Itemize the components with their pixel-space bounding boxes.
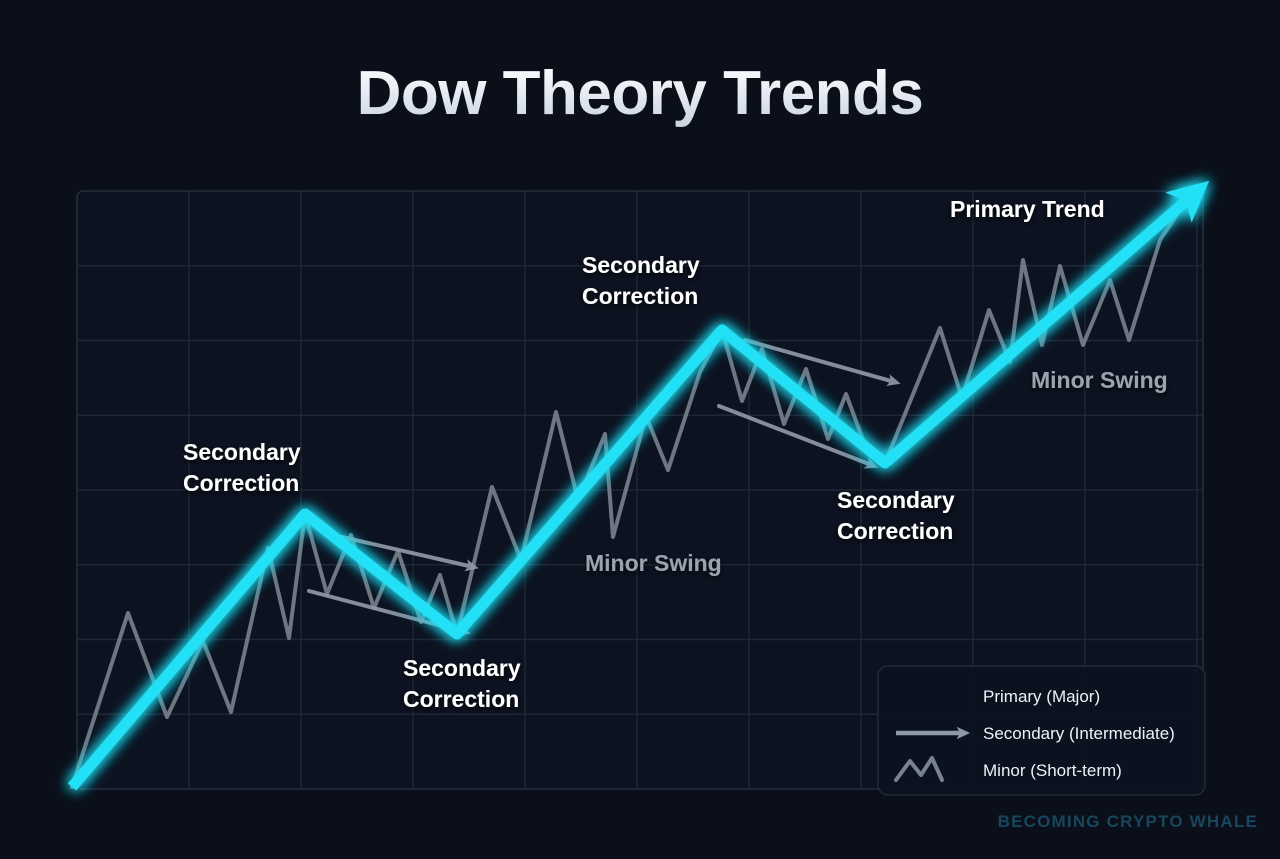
label-line-1: Secondary <box>582 252 700 278</box>
label-line-1: Primary Trend <box>950 196 1105 222</box>
label-minor-swing-1: Minor Swing <box>585 550 722 576</box>
label-line-1: Minor Swing <box>585 550 722 576</box>
label-line-1: Minor Swing <box>1031 367 1168 393</box>
label-line-1: Secondary <box>837 487 955 513</box>
chart-canvas: Dow Theory Trends <box>0 0 1280 859</box>
label-line-1: Secondary <box>183 439 301 465</box>
label-minor-swing-2: Minor Swing <box>1031 367 1168 393</box>
dow-theory-chart: SecondaryCorrectionSecondaryCorrectionSe… <box>0 0 1280 859</box>
legend-item-label: Primary (Major) <box>983 687 1100 706</box>
label-line-2: Correction <box>582 283 698 309</box>
label-line-2: Correction <box>403 686 519 712</box>
label-line-1: Secondary <box>403 655 521 681</box>
label-line-2: Correction <box>837 518 953 544</box>
legend-item-label: Secondary (Intermediate) <box>983 724 1175 743</box>
label-line-2: Correction <box>183 470 299 496</box>
legend-item-label: Minor (Short-term) <box>983 761 1122 780</box>
watermark: BECOMING CRYPTO WHALE <box>998 812 1258 832</box>
chart-legend: Primary (Major)Secondary (Intermediate)M… <box>878 666 1205 795</box>
label-primary-trend: Primary Trend <box>950 196 1105 222</box>
